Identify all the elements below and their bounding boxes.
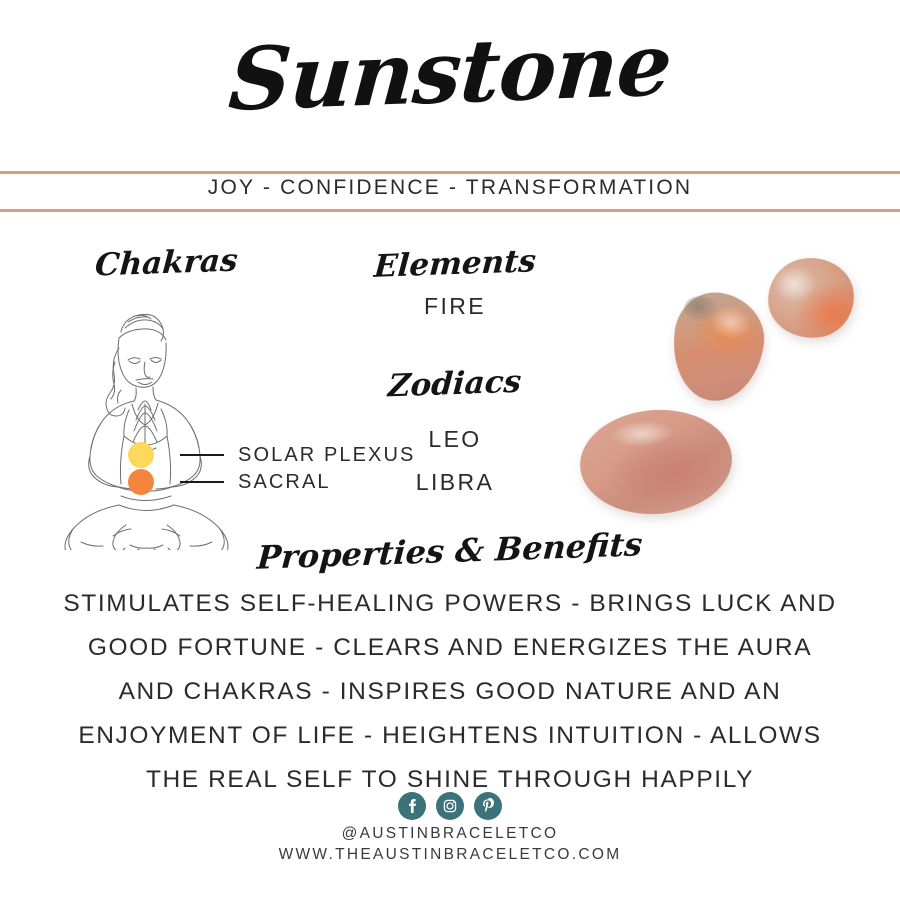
instagram-icon[interactable] (436, 792, 464, 820)
properties-line: GOOD FORTUNE - CLEARS AND ENERGIZES THE … (20, 626, 880, 670)
zodiac-item: LIBRA (360, 461, 550, 504)
page-title: Sunstone (0, 28, 900, 118)
zodiacs-list: LEO LIBRA (360, 418, 550, 504)
sacral-dot (128, 469, 154, 495)
zodiac-item: LEO (360, 418, 550, 461)
website-url[interactable]: WWW.THEAUSTINBRACELETCO.COM (0, 844, 900, 865)
footer: @AUSTINBRACELETCO WWW.THEAUSTINBRACELETC… (0, 823, 900, 865)
properties-heading: Properties & Benefits (0, 532, 900, 570)
properties-heading-text: Properties & Benefits (256, 525, 644, 577)
zodiacs-heading-text: Zodiacs (387, 364, 523, 405)
zodiacs-heading: Zodiacs (360, 366, 550, 402)
elements-value: FIRE (360, 293, 550, 320)
sunstone-stone-large (577, 405, 736, 519)
crystal-info-card: Sunstone JOY - CONFIDENCE - TRANSFORMATI… (0, 0, 900, 900)
divider-rule-top (0, 171, 900, 174)
sacral-label: SACRAL (238, 471, 331, 494)
chakras-heading: Chakras (76, 245, 256, 281)
solar-plexus-dot (128, 442, 154, 468)
social-links (0, 792, 900, 820)
social-handle[interactable]: @AUSTINBRACELETCO (0, 823, 900, 844)
sacral-leader-line (180, 481, 224, 483)
chakra-item-sacral: SACRAL (128, 469, 331, 495)
divider-rule-bottom (0, 209, 900, 212)
elements-heading-text: Elements (373, 243, 537, 285)
facebook-icon[interactable] (398, 792, 426, 820)
chakras-heading-text: Chakras (93, 242, 238, 283)
sunstone-stone-medium (666, 287, 770, 406)
properties-line: STIMULATES SELF-HEALING POWERS - BRINGS … (20, 582, 880, 626)
pinterest-icon[interactable] (474, 792, 502, 820)
properties-line: AND CHAKRAS - INSPIRES GOOD NATURE AND A… (20, 670, 880, 714)
tagline: JOY - CONFIDENCE - TRANSFORMATION (0, 176, 900, 200)
properties-line: ENJOYMENT OF LIFE - HEIGHTENS INTUITION … (20, 714, 880, 758)
sunstone-specimens (560, 248, 900, 548)
solar-plexus-leader-line (180, 454, 224, 456)
meditating-woman-illustration (33, 300, 248, 550)
page-title-text: Sunstone (226, 20, 674, 126)
elements-heading: Elements (360, 246, 550, 282)
sunstone-stone-small (764, 254, 858, 343)
properties-body: STIMULATES SELF-HEALING POWERS - BRINGS … (20, 582, 880, 802)
